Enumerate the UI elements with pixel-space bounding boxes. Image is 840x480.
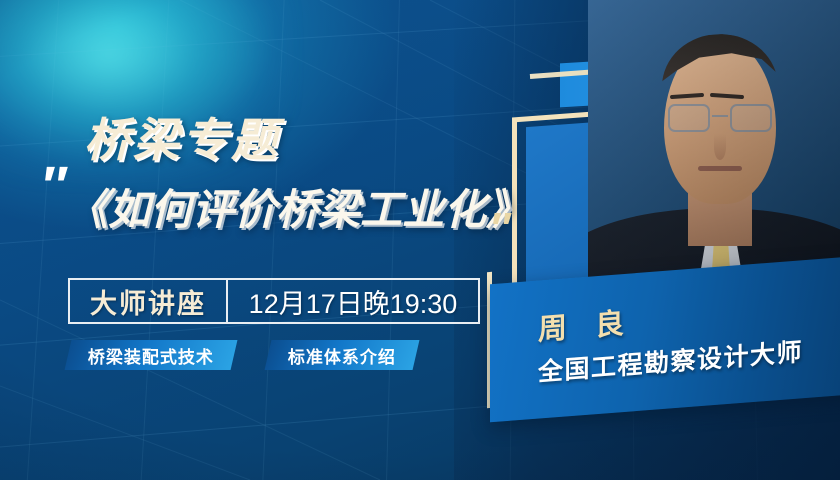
promo-banner: 周 良 全国工程勘察设计大师 桥梁专题 ″ 《如何评价桥梁工业化》 ″ 大师讲座…	[0, 0, 840, 480]
quote-open-mark: ″	[40, 170, 66, 202]
lecture-datetime: 12月17日晚19:30	[228, 280, 478, 322]
topic-tag-label: 桥梁装配式技术	[88, 343, 214, 368]
topic-tag[interactable]: 标准体系介绍	[265, 340, 420, 370]
speaker-zone: 周 良 全国工程勘察设计大师	[470, 0, 840, 480]
quote-close-mark: ″	[489, 216, 510, 242]
speaker-nameplate: 周 良 全国工程勘察设计大师	[490, 256, 840, 423]
page-title: 桥梁专题	[84, 104, 280, 170]
topic-tag[interactable]: 桥梁装配式技术	[65, 340, 238, 370]
topic-tag-label: 标准体系介绍	[288, 343, 396, 368]
lecture-label: 大师讲座	[70, 280, 228, 322]
headline-block: 桥梁专题 ″ 《如何评价桥梁工业化》 ″ 大师讲座 12月17日晚19:30 桥…	[0, 0, 520, 480]
topic-tag-list: 桥梁装配式技术 标准体系介绍	[68, 340, 416, 370]
lecture-info-bar: 大师讲座 12月17日晚19:30	[68, 278, 480, 324]
subtitle: 《如何评价桥梁工业化》	[66, 176, 520, 237]
